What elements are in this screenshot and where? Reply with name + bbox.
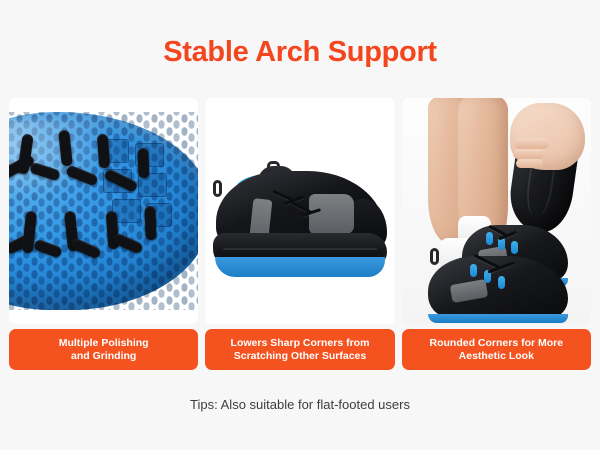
caption-bar-3: Rounded Corners for More Aesthetic Look — [402, 329, 591, 370]
finger — [513, 149, 545, 159]
blue-outsole-edge — [215, 257, 386, 277]
outsole-macro-photo — [9, 98, 198, 324]
caption-bar-1: Multiple Polishing and Grinding — [9, 329, 198, 370]
heel-pull-tab-icon — [213, 180, 222, 197]
hand — [510, 103, 586, 171]
feature-panel-3[interactable] — [402, 98, 591, 324]
caption-text-3: Rounded Corners for More Aesthetic Look — [430, 337, 564, 363]
caption-1-line-2: and Grinding — [71, 350, 136, 362]
caption-text-2: Lowers Sharp Corners from Scratching Oth… — [231, 337, 370, 363]
blue-eyelet — [486, 232, 493, 245]
worn-shoes-photo — [402, 98, 591, 324]
tread-groove — [97, 134, 110, 169]
page-title: Stable Arch Support — [0, 0, 600, 67]
sneaker-side-view — [213, 159, 387, 277]
caption-3-line-2: Aesthetic Look — [459, 350, 534, 362]
feature-panel-2[interactable] — [205, 98, 394, 324]
finger — [514, 138, 549, 149]
tread-groove — [145, 206, 157, 240]
heel-pull-tab-icon — [430, 248, 439, 265]
grey-side-panel — [309, 194, 354, 234]
tread-groove — [137, 148, 149, 178]
caption-bars-row: Multiple Polishing and Grinding Lowers S… — [0, 329, 600, 370]
blue-eyelet — [470, 264, 477, 277]
caption-bar-2: Lowers Sharp Corners from Scratching Oth… — [205, 329, 394, 370]
blue-outsole-edge — [428, 314, 568, 324]
caption-2-line-2: Scratching Other Surfaces — [234, 350, 366, 362]
blue-eyelet — [498, 276, 505, 289]
feature-panels-row — [0, 98, 600, 324]
caption-1-line-1: Multiple Polishing — [59, 337, 149, 349]
worn-shoe-front — [428, 256, 568, 317]
caption-2-line-1: Lowers Sharp Corners from — [231, 337, 370, 349]
footer-tip: Tips: Also suitable for flat-footed user… — [0, 397, 600, 412]
blue-eyelet — [511, 241, 518, 254]
caption-text-1: Multiple Polishing and Grinding — [59, 337, 149, 363]
feature-panel-1[interactable] — [9, 98, 198, 324]
finger — [516, 159, 543, 168]
shoe-profile-photo — [205, 98, 394, 324]
caption-3-line-1: Rounded Corners for More — [430, 337, 564, 349]
